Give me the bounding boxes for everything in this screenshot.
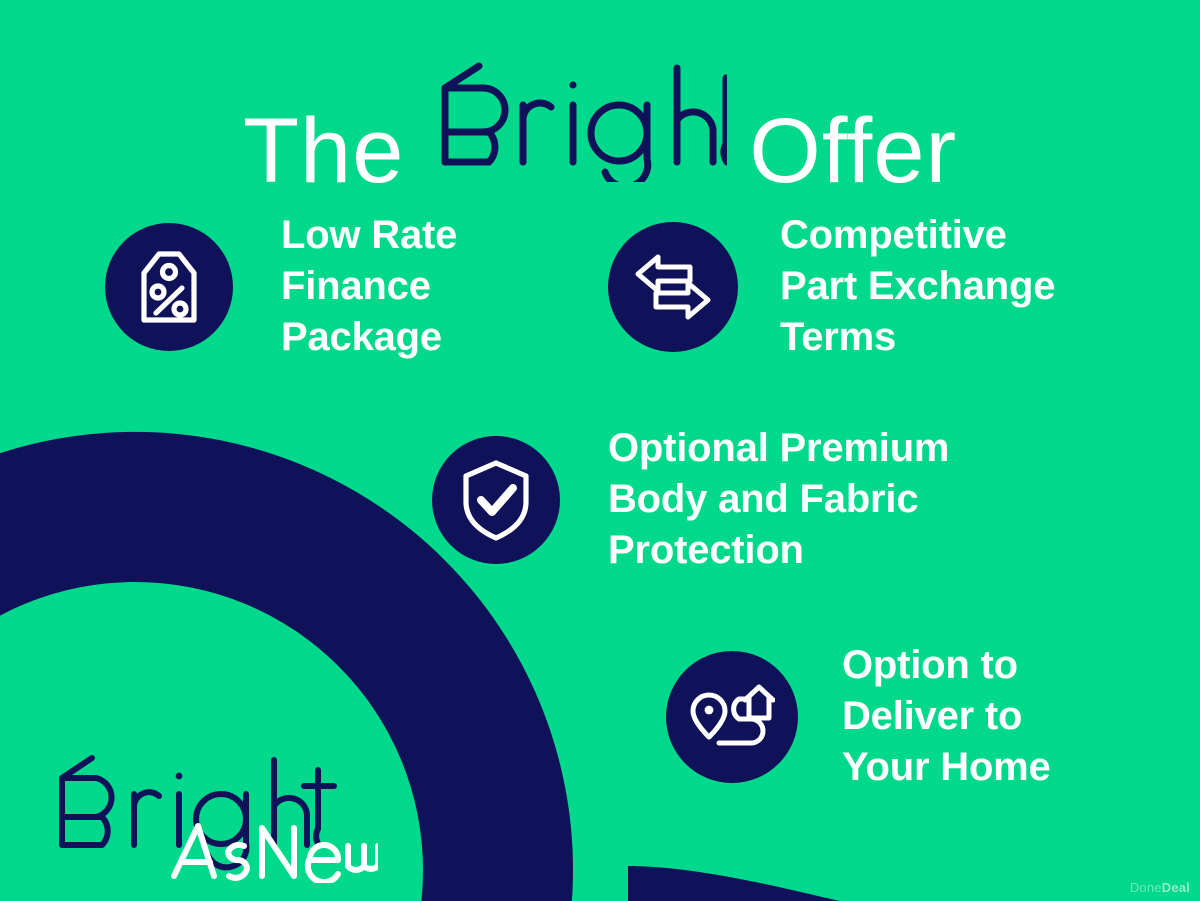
delivery-route-home-icon [666, 651, 798, 783]
title-brand-bright [427, 58, 727, 182]
promo-poster: The [0, 0, 1200, 901]
feature-low-rate-finance: Low Rate Finance Package [105, 210, 457, 364]
title-word-offer: Offer [749, 105, 957, 197]
feature-home-delivery: Option to Deliver to Your Home [666, 640, 1051, 794]
watermark: DoneDeal [1130, 880, 1190, 895]
title-word-the: The [243, 105, 405, 197]
feature-label-body-fabric-protection: Optional Premium Body and Fabric Protect… [608, 423, 949, 577]
feature-label-low-rate-finance: Low Rate Finance Package [281, 210, 457, 364]
price-tag-percent-icon [105, 223, 233, 351]
shield-check-icon [432, 436, 560, 564]
feature-label-home-delivery: Option to Deliver to Your Home [842, 640, 1051, 794]
feature-label-part-exchange: Competitive Part Exchange Terms [780, 210, 1055, 364]
two-way-exchange-arrows-icon [608, 222, 738, 352]
feature-part-exchange: Competitive Part Exchange Terms [608, 210, 1055, 364]
feature-body-fabric-protection: Optional Premium Body and Fabric Protect… [432, 423, 949, 577]
brand-logo [48, 748, 378, 883]
page-title: The [0, 58, 1200, 197]
watermark-suffix: Deal [1162, 880, 1190, 895]
navy-corner-arc [628, 866, 840, 901]
watermark-prefix: Done [1130, 880, 1162, 895]
